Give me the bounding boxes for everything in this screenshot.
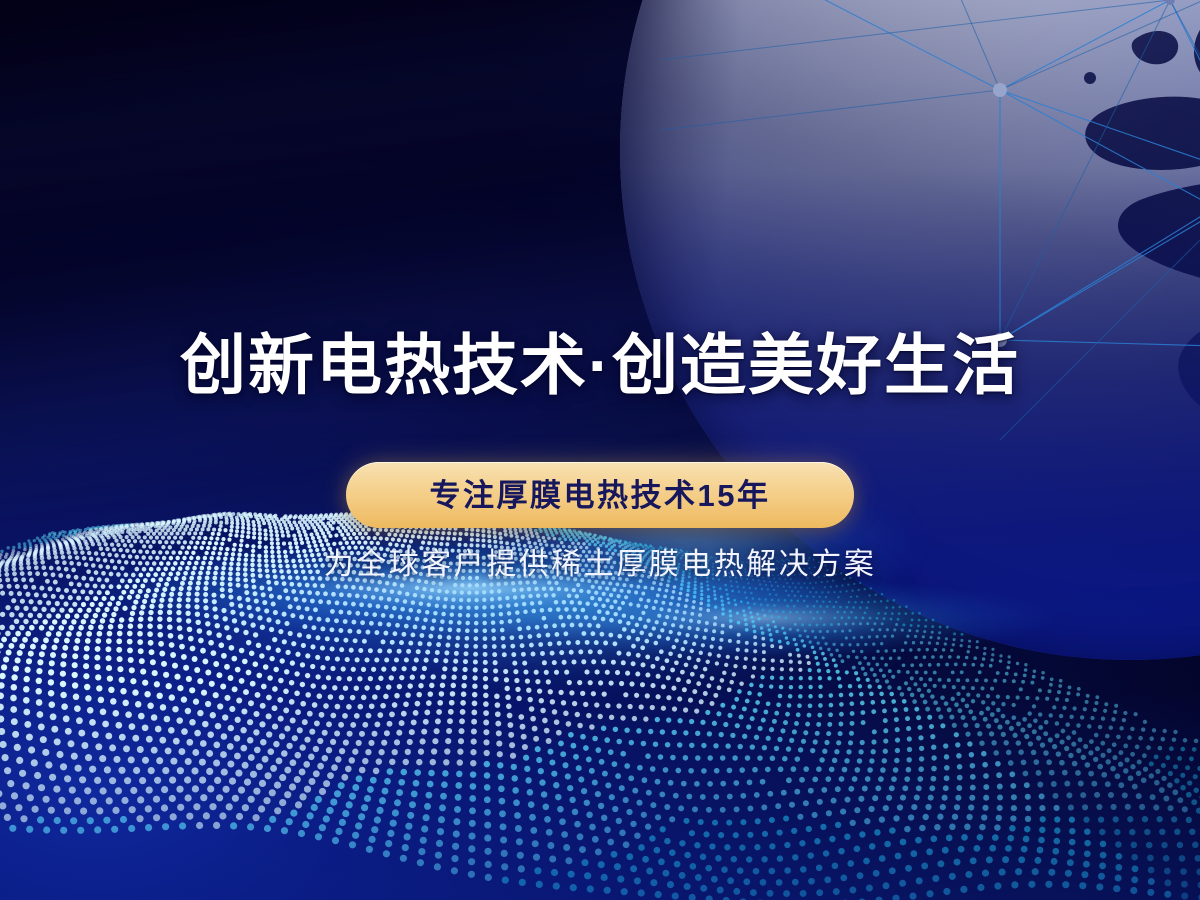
subtitle: 为全球客户提供稀土厚膜电热解决方案 — [0, 545, 1200, 584]
badge-row: 专注厚膜电热技术15年 — [0, 462, 1200, 528]
hero-banner: 创新电热技术·创造美好生活 专注厚膜电热技术15年 为全球客户提供稀土厚膜电热解… — [0, 0, 1200, 900]
status-badge: 专注厚膜电热技术15年 — [346, 462, 854, 528]
banner-content: 创新电热技术·创造美好生活 专注厚膜电热技术15年 为全球客户提供稀土厚膜电热解… — [0, 0, 1200, 900]
page-title: 创新电热技术·创造美好生活 — [0, 332, 1200, 398]
badge-label: 专注厚膜电热技术15年 — [430, 480, 771, 511]
